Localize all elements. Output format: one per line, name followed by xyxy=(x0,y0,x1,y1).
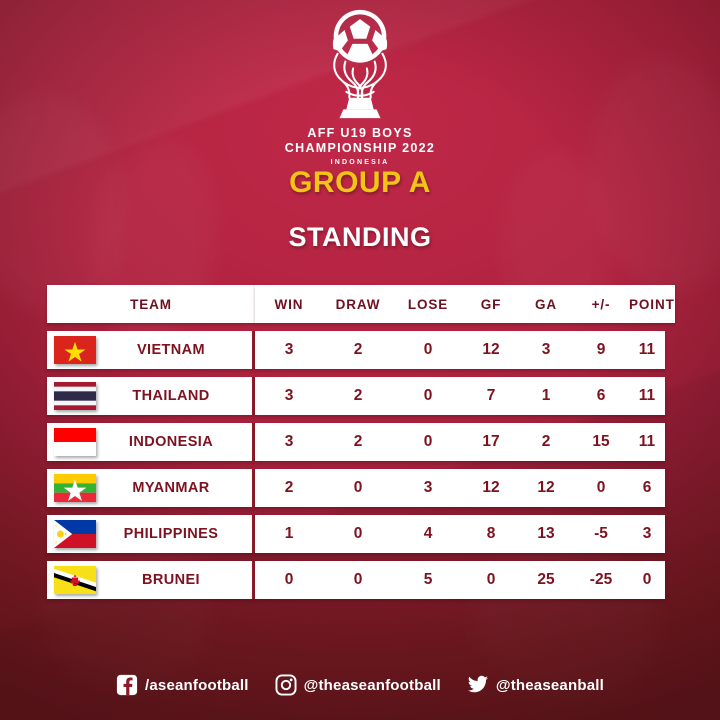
twitter-icon xyxy=(467,674,489,696)
cell-point: 11 xyxy=(629,433,665,451)
cell-draw: 0 xyxy=(323,525,393,543)
header-label-team: TEAM xyxy=(130,297,172,312)
cell-lose: 0 xyxy=(393,387,463,405)
cell-ga: 12 xyxy=(519,479,573,497)
header-cell-win: WIN xyxy=(255,297,323,312)
logo-line-3: INDONESIA xyxy=(331,159,390,166)
stats-group: 1 0 4 8 13 -5 3 xyxy=(255,515,665,553)
header-cell-ga: GA xyxy=(519,297,573,312)
cell-gf: 12 xyxy=(463,479,519,497)
team-cell: THAILAND xyxy=(47,377,255,415)
cell-plusminus: 6 xyxy=(573,387,629,405)
cell-plusminus: 15 xyxy=(573,433,629,451)
cell-draw: 0 xyxy=(323,571,393,589)
cell-ga: 3 xyxy=(519,341,573,359)
table-header-row: TEAM WIN DRAW LOSE GF GA +/- POINT xyxy=(47,285,665,323)
twitter-handle: @theaseanball xyxy=(496,677,604,694)
cell-draw: 2 xyxy=(323,341,393,359)
trophy-football-icon xyxy=(301,6,419,125)
header-cell-point: POINT xyxy=(629,297,675,312)
table-row: PHILIPPINES 1 0 4 8 13 -5 3 xyxy=(47,515,665,553)
social-twitter[interactable]: @theaseanball xyxy=(467,674,604,696)
cell-gf: 0 xyxy=(463,571,519,589)
facebook-icon xyxy=(116,674,138,696)
flag-brunei-icon xyxy=(54,566,96,594)
table-row: BRUNEI 0 0 5 0 25 -25 0 xyxy=(47,561,665,599)
instagram-icon xyxy=(275,674,297,696)
cell-draw: 0 xyxy=(323,479,393,497)
header-cell-draw: DRAW xyxy=(323,297,393,312)
cell-lose: 4 xyxy=(393,525,463,543)
flag-indonesia-icon xyxy=(54,428,96,456)
table-row: MYANMAR 2 0 3 12 12 0 6 xyxy=(47,469,665,507)
social-facebook[interactable]: /aseanfootball xyxy=(116,674,249,696)
cell-lose: 0 xyxy=(393,341,463,359)
flag-vietnam-icon xyxy=(54,336,96,364)
cell-plusminus: -5 xyxy=(573,525,629,543)
flag-myanmar-icon xyxy=(54,474,96,502)
team-name: THAILAND xyxy=(96,388,252,404)
social-footer: /aseanfootball @theaseanfootball @thease… xyxy=(0,674,720,696)
cell-gf: 12 xyxy=(463,341,519,359)
cell-point: 6 xyxy=(629,479,665,497)
stats-group: 3 2 0 12 3 9 11 xyxy=(255,331,665,369)
cell-win: 1 xyxy=(255,525,323,543)
table-row: VIETNAM 3 2 0 12 3 9 11 xyxy=(47,331,665,369)
team-name: BRUNEI xyxy=(96,572,252,588)
team-cell: MYANMAR xyxy=(47,469,255,507)
cell-plusminus: 0 xyxy=(573,479,629,497)
cell-ga: 13 xyxy=(519,525,573,543)
team-name: VIETNAM xyxy=(96,342,252,358)
stats-group: 3 2 0 17 2 15 11 xyxy=(255,423,665,461)
cell-gf: 7 xyxy=(463,387,519,405)
cell-point: 11 xyxy=(629,387,665,405)
cell-ga: 2 xyxy=(519,433,573,451)
table-row: THAILAND 3 2 0 7 1 6 11 xyxy=(47,377,665,415)
header-cell-lose: LOSE xyxy=(393,297,463,312)
cell-gf: 8 xyxy=(463,525,519,543)
cell-draw: 2 xyxy=(323,433,393,451)
cell-lose: 0 xyxy=(393,433,463,451)
stats-group: 0 0 5 0 25 -25 0 xyxy=(255,561,665,599)
cell-ga: 25 xyxy=(519,571,573,589)
standings-table: TEAM WIN DRAW LOSE GF GA +/- POINT VIETN… xyxy=(47,285,665,599)
cell-plusminus: -25 xyxy=(573,571,629,589)
facebook-handle: /aseanfootball xyxy=(145,677,249,694)
tournament-logo: AFF U19 BOYS CHAMPIONSHIP 2022 INDONESIA xyxy=(0,6,720,166)
table-row: INDONESIA 3 2 0 17 2 15 11 xyxy=(47,423,665,461)
header-cell-team: TEAM xyxy=(47,285,255,323)
logo-line-1: AFF U19 BOYS xyxy=(307,126,412,140)
cell-win: 3 xyxy=(255,341,323,359)
team-name: MYANMAR xyxy=(96,480,252,496)
cell-win: 2 xyxy=(255,479,323,497)
cell-plusminus: 9 xyxy=(573,341,629,359)
cell-lose: 5 xyxy=(393,571,463,589)
team-cell: PHILIPPINES xyxy=(47,515,255,553)
team-name: INDONESIA xyxy=(96,434,252,450)
team-name: PHILIPPINES xyxy=(96,526,252,542)
instagram-handle: @theaseanfootball xyxy=(304,677,441,694)
group-title: GROUP A xyxy=(0,166,720,200)
stats-group: 2 0 3 12 12 0 6 xyxy=(255,469,665,507)
logo-line-2: CHAMPIONSHIP 2022 xyxy=(285,141,435,155)
team-cell: VIETNAM xyxy=(47,331,255,369)
header-cell-gf: GF xyxy=(463,297,519,312)
standing-title: STANDING xyxy=(0,222,720,253)
team-cell: INDONESIA xyxy=(47,423,255,461)
header-stats-group: WIN DRAW LOSE GF GA +/- POINT xyxy=(255,285,675,323)
social-instagram[interactable]: @theaseanfootball xyxy=(275,674,441,696)
header-cell-plusminus: +/- xyxy=(573,297,629,312)
cell-win: 3 xyxy=(255,433,323,451)
stats-group: 3 2 0 7 1 6 11 xyxy=(255,377,665,415)
team-cell: BRUNEI xyxy=(47,561,255,599)
cell-point: 0 xyxy=(629,571,665,589)
cell-point: 3 xyxy=(629,525,665,543)
flag-philippines-icon xyxy=(54,520,96,548)
cell-win: 0 xyxy=(255,571,323,589)
cell-gf: 17 xyxy=(463,433,519,451)
cell-point: 11 xyxy=(629,341,665,359)
cell-draw: 2 xyxy=(323,387,393,405)
cell-ga: 1 xyxy=(519,387,573,405)
cell-lose: 3 xyxy=(393,479,463,497)
flag-thailand-icon xyxy=(54,382,96,410)
cell-win: 3 xyxy=(255,387,323,405)
